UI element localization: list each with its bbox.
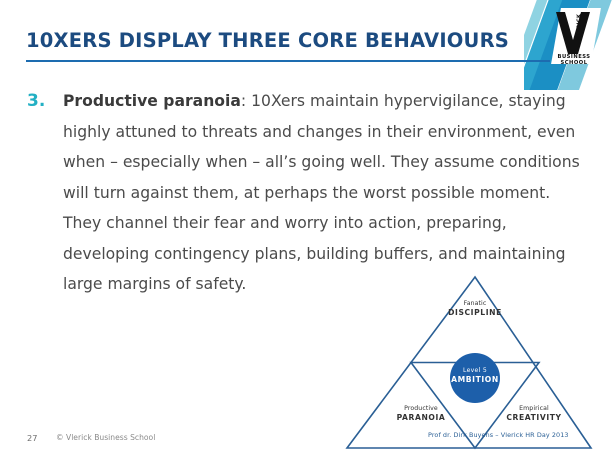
bullet-lead-term: Productive paranoia [63,92,241,110]
logo-subtitle: BUSINESS SCHOOL [550,54,598,67]
core-behaviours-triangle-diagram: Fanatic DISCIPLINE Productive PARANOIA E… [336,268,604,460]
vlerick-logo: VLERICK BUSINESS SCHOOL [524,0,614,90]
logo-band-stripe-2 [524,0,574,90]
logo-white-plate [551,8,601,64]
footer-copyright: © Vlerick Business School [56,433,155,442]
logo-band-stripe-1 [524,0,558,90]
diagram-credit: Prof dr. Dirk Buyens – Vlerick HR Day 20… [428,431,569,439]
page-title: 10XERS DISPLAY THREE CORE BEHAVIOURS [26,29,509,52]
logo-band-stripe-3 [524,0,599,90]
slide-canvas: VLERICK BUSINESS SCHOOL 10XERS DISPLAY T… [0,0,614,460]
footer-page-number: 27 [27,433,37,443]
bullet-body-text: : 10Xers maintain hypervigilance, stayin… [63,92,580,293]
center-circle-shape [450,353,500,403]
title-underline-rule [26,60,550,62]
logo-subtitle-line2: SCHOOL [560,60,587,66]
logo-v-icon [556,12,590,52]
logo-wordmark: VLERICK [577,14,583,41]
bullet-number: 3. [27,86,63,117]
logo-band-stripe-4 [551,0,614,90]
logo-subtitle-line1: BUSINESS [558,54,591,60]
